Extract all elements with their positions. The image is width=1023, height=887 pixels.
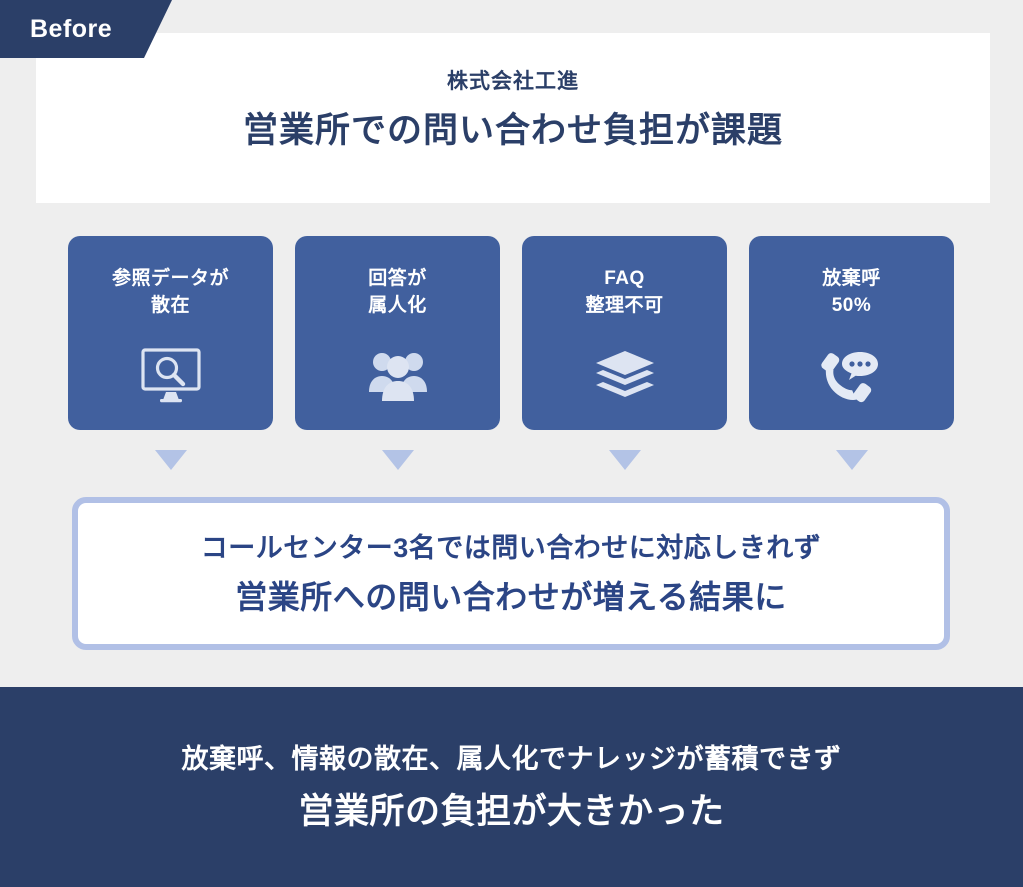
arrow-cell-1 (68, 450, 273, 470)
header-band: 株式会社工進 営業所での問い合わせ負担が課題 (36, 33, 990, 203)
problem-card-4: 放棄呼 50% (749, 236, 954, 430)
problem-card-2-line1: 回答が (368, 268, 427, 289)
footer-line-1: 放棄呼、情報の散在、属人化でナレッジが蓄積できず (182, 746, 842, 773)
arrow-cell-4 (749, 450, 954, 470)
arrows-row (68, 450, 954, 470)
chevron-down-icon (836, 450, 868, 470)
problem-card-1-line1: 参照データが (112, 268, 229, 289)
problem-card-3-line1: FAQ (604, 268, 645, 289)
callout-line-2: 営業所への問い合わせが増える結果に (235, 581, 787, 613)
arrow-cell-3 (522, 450, 727, 470)
monitor-search-icon (140, 346, 202, 404)
footer-line-2: 営業所の負担が大きかった (298, 794, 724, 829)
callout-line-1: コールセンター3名では問い合わせに対応しきれず (201, 535, 822, 562)
problem-card-2-label: 回答が 属人化 (368, 266, 427, 320)
problem-card-1-label: 参照データが 散在 (112, 266, 229, 320)
result-callout: コールセンター3名では問い合わせに対応しきれず 営業所への問い合わせが増える結果… (72, 497, 950, 650)
problem-card-4-line2: 50% (832, 295, 872, 316)
arrow-cell-2 (295, 450, 500, 470)
problem-card-4-label: 放棄呼 50% (822, 266, 881, 320)
problem-card-2-line2: 属人化 (368, 295, 427, 316)
layers-stack-icon (594, 346, 656, 404)
problem-card-3: FAQ 整理不可 (522, 236, 727, 430)
problem-card-1: 参照データが 散在 (68, 236, 273, 430)
problem-card-2: 回答が 属人化 (295, 236, 500, 430)
problem-card-1-line2: 散在 (151, 295, 190, 316)
phone-chat-icon (819, 346, 885, 404)
problem-card-3-label: FAQ 整理不可 (585, 266, 663, 320)
summary-footer: 放棄呼、情報の散在、属人化でナレッジが蓄積できず 営業所の負担が大きかった (0, 687, 1023, 887)
company-name: 株式会社工進 (447, 71, 579, 92)
chevron-down-icon (382, 450, 414, 470)
chevron-down-icon (155, 450, 187, 470)
problem-card-3-line2: 整理不可 (585, 295, 663, 316)
problem-card-4-line1: 放棄呼 (822, 268, 881, 289)
problem-cards-row: 参照データが 散在 回答が 属人化 (68, 236, 954, 430)
ribbon-label: Before (30, 15, 112, 44)
chevron-down-icon (609, 450, 641, 470)
before-ribbon: Before (0, 0, 172, 58)
people-group-icon (367, 346, 429, 404)
page-title: 営業所での問い合わせ負担が課題 (243, 113, 783, 148)
